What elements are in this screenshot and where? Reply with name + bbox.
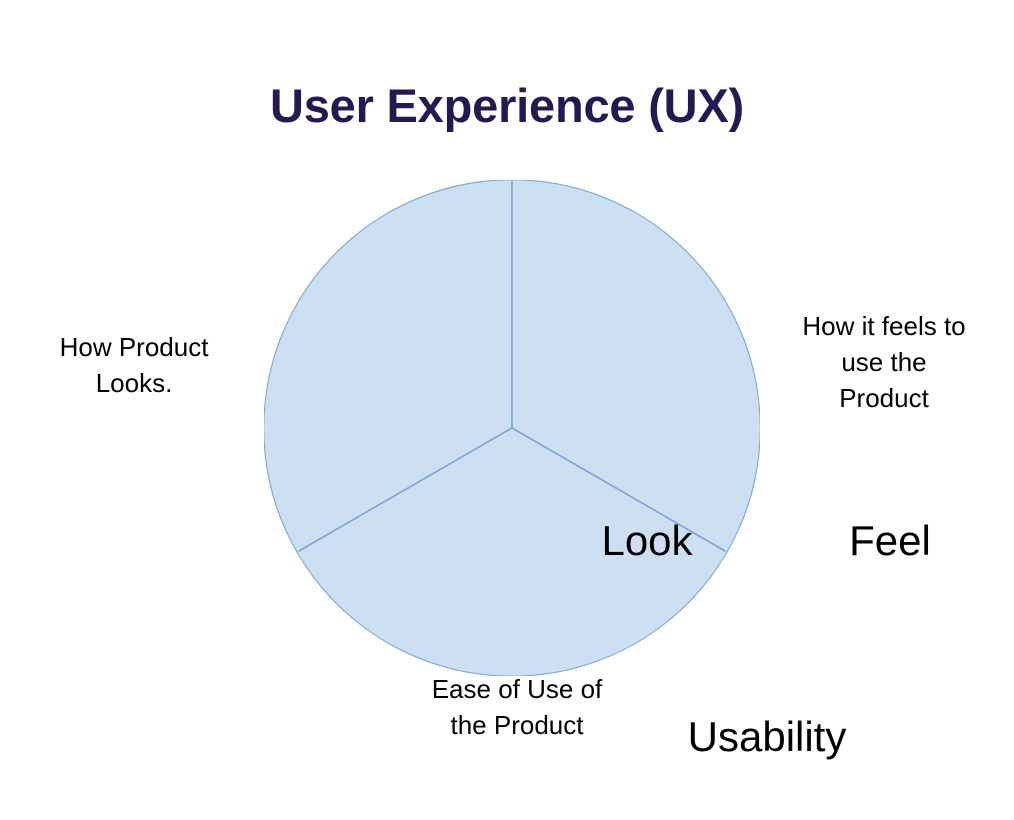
- annotation-look: How Product Looks.: [18, 330, 250, 402]
- page-title: User Experience (UX): [0, 80, 1014, 133]
- pie-chart: Look Feel Usability: [264, 180, 760, 676]
- annotation-feel-line-3: Product: [762, 381, 1006, 417]
- annotation-feel-line-1: How it feels to: [762, 309, 1006, 345]
- annotation-feel-line-2: use the: [762, 345, 1006, 381]
- annotation-usability-line-1: Ease of Use of: [372, 672, 662, 708]
- pie-slice-label-feel: Feel: [849, 518, 931, 564]
- annotation-usability-line-2: the Product: [372, 708, 662, 744]
- annotation-feel: How it feels to use the Product: [762, 309, 1006, 417]
- annotation-usability: Ease of Use of the Product: [372, 672, 662, 744]
- pie-slice-label-usability: Usability: [688, 714, 847, 760]
- slide-canvas: User Experience (UX) Look Feel Usability…: [0, 0, 1014, 820]
- pie-chart-svg: [264, 180, 760, 676]
- annotation-look-line-2: Looks.: [18, 366, 250, 402]
- pie-slice-label-look: Look: [601, 518, 692, 564]
- annotation-look-line-1: How Product: [18, 330, 250, 366]
